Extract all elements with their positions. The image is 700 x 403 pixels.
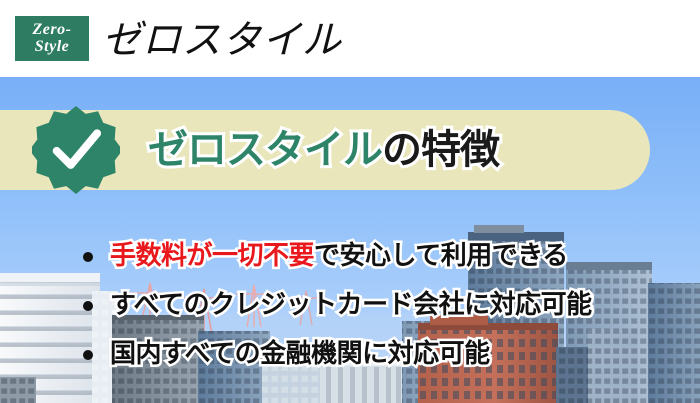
list-item-rest: 国内すべての金融機関に対応可能 bbox=[110, 339, 490, 369]
check-badge-icon bbox=[32, 104, 120, 196]
list-item-text: 手数料が一切不要で安心して利用できる bbox=[110, 232, 568, 281]
banner-title: ゼロスタイルの特徴 bbox=[148, 113, 499, 187]
feature-list: 手数料が一切不要で安心して利用できる すべてのクレジットカード会社に対応可能 国… bbox=[0, 232, 700, 379]
list-item: すべてのクレジットカード会社に対応可能 bbox=[0, 281, 700, 330]
banner-title-highlight: ゼロスタイル bbox=[148, 127, 382, 173]
list-item-text: すべてのクレジットカード会社に対応可能 bbox=[110, 281, 592, 330]
banner-title-rest: の特徴 bbox=[382, 127, 499, 173]
brand-name: ゼロスタイル bbox=[102, 9, 342, 65]
bullet-dot-icon bbox=[83, 252, 93, 262]
bullet-dot-icon bbox=[83, 301, 93, 311]
list-item: 国内すべての金融機関に対応可能 bbox=[0, 330, 700, 379]
list-item-rest: すべてのクレジットカード会社に対応可能 bbox=[110, 290, 592, 320]
promo-banner-page: Zero- Style ゼロスタイル bbox=[0, 0, 700, 403]
check-badge-shape bbox=[32, 104, 120, 196]
logo-line-one: Zero- bbox=[33, 22, 72, 38]
list-item: 手数料が一切不要で安心して利用できる bbox=[0, 232, 700, 281]
site-header: Zero- Style ゼロスタイル bbox=[0, 0, 700, 77]
logo-line-two: Style bbox=[35, 39, 70, 55]
list-item-rest: で安心して利用できる bbox=[314, 241, 568, 271]
list-item-text: 国内すべての金融機関に対応可能 bbox=[110, 330, 490, 379]
bullet-dot-icon bbox=[83, 350, 93, 360]
list-item-emphasis: 手数料が一切不要 bbox=[110, 241, 314, 271]
zero-style-logo-mark[interactable]: Zero- Style bbox=[15, 16, 89, 61]
